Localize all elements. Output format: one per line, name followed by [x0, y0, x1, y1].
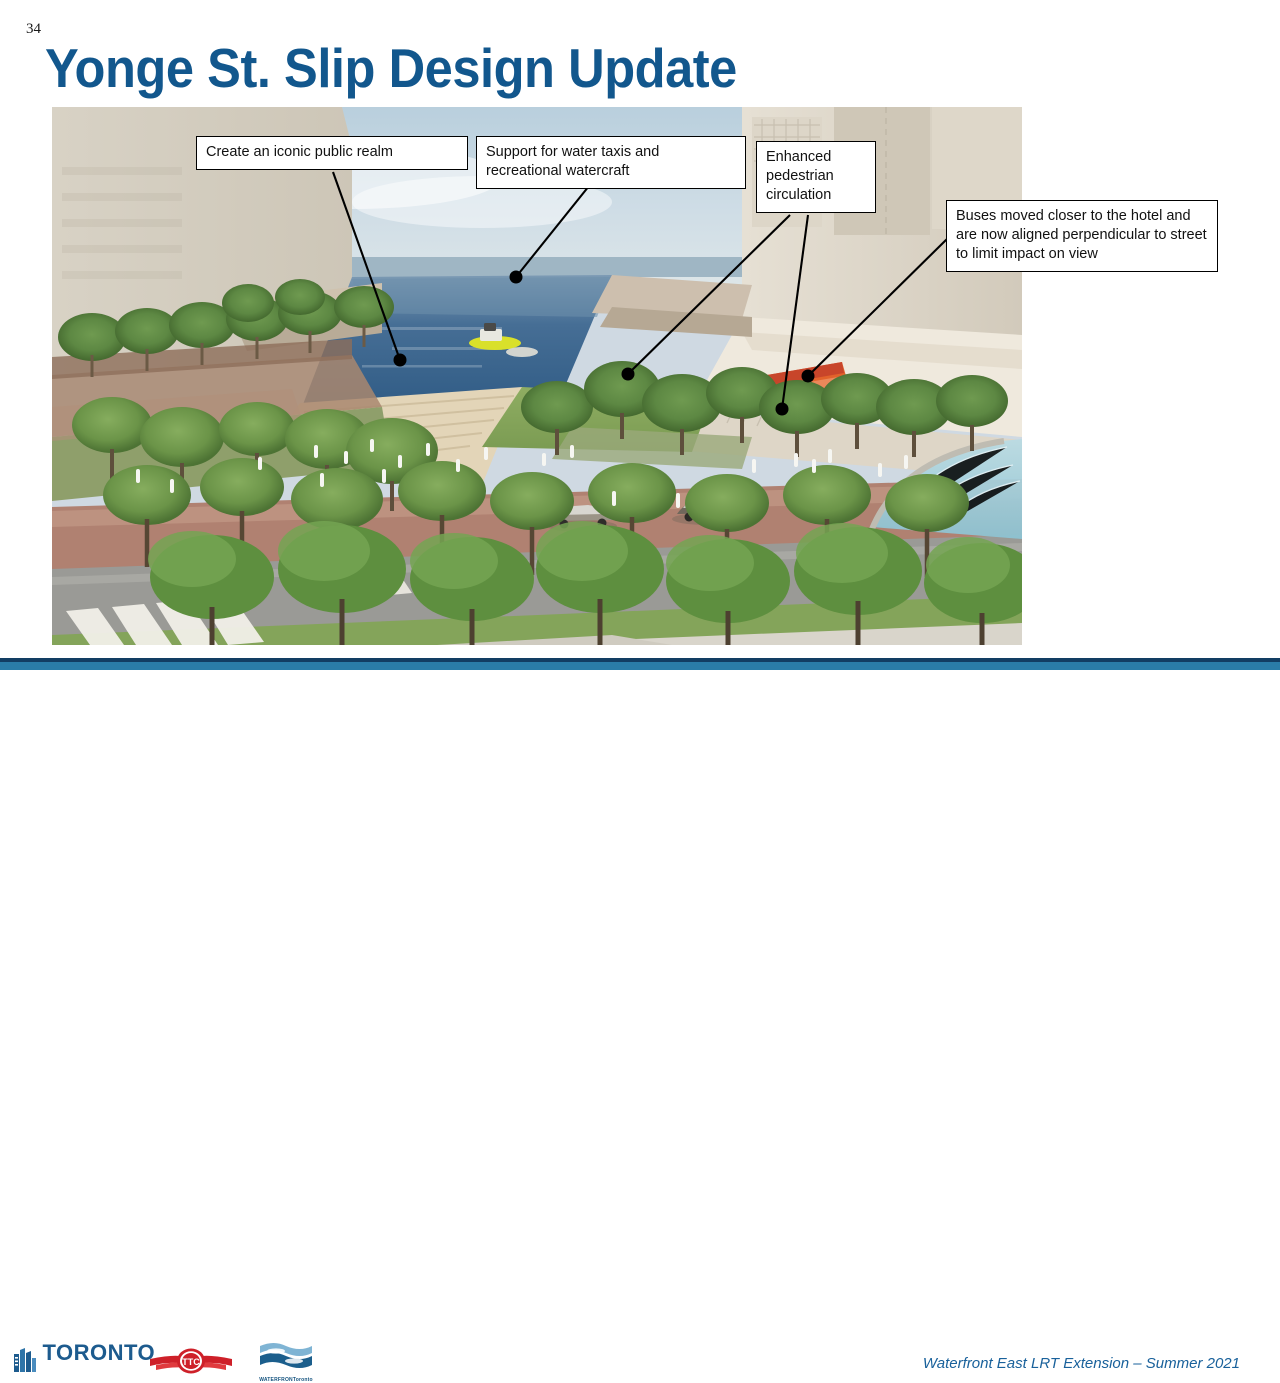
callout-enhanced-pedestrian-circulation: Enhanced pedestrian circulation [756, 141, 876, 213]
callout-buses-moved-closer: Buses moved closer to the hotel and are … [946, 200, 1218, 272]
waterfront-toronto-logo: WATERFRONToronto [256, 1340, 316, 1383]
page-number: 34 [26, 22, 41, 37]
footer-divider [0, 658, 1280, 670]
slide-canvas: 34 Yonge St. Slip Design Update [0, 0, 1280, 720]
ttc-logo: TTC [148, 1348, 234, 1379]
callout-create-iconic-public-realm: Create an iconic public realm [196, 136, 468, 170]
waterfront-wave-icon [256, 1340, 316, 1374]
toronto-wordmark: TORONTO [42, 1340, 155, 1365]
waterfront-wordmark: WATERFRONToronto [256, 1377, 316, 1383]
toronto-skyline-icon [14, 1348, 36, 1372]
footer-caption: Waterfront East LRT Extension – Summer 2… [923, 1355, 1240, 1372]
footer-bar: TORONTO TTC WATERFRONToront [0, 670, 1280, 720]
footer-divider-teal [0, 662, 1280, 670]
city-of-toronto-logo: TORONTO [14, 1346, 153, 1372]
ttc-emblem-icon: TTC [148, 1348, 234, 1374]
svg-text:TTC: TTC [182, 1357, 200, 1367]
page-title: Yonge St. Slip Design Update [45, 38, 737, 98]
callout-support-water-taxis: Support for water taxis and recreational… [476, 136, 746, 189]
